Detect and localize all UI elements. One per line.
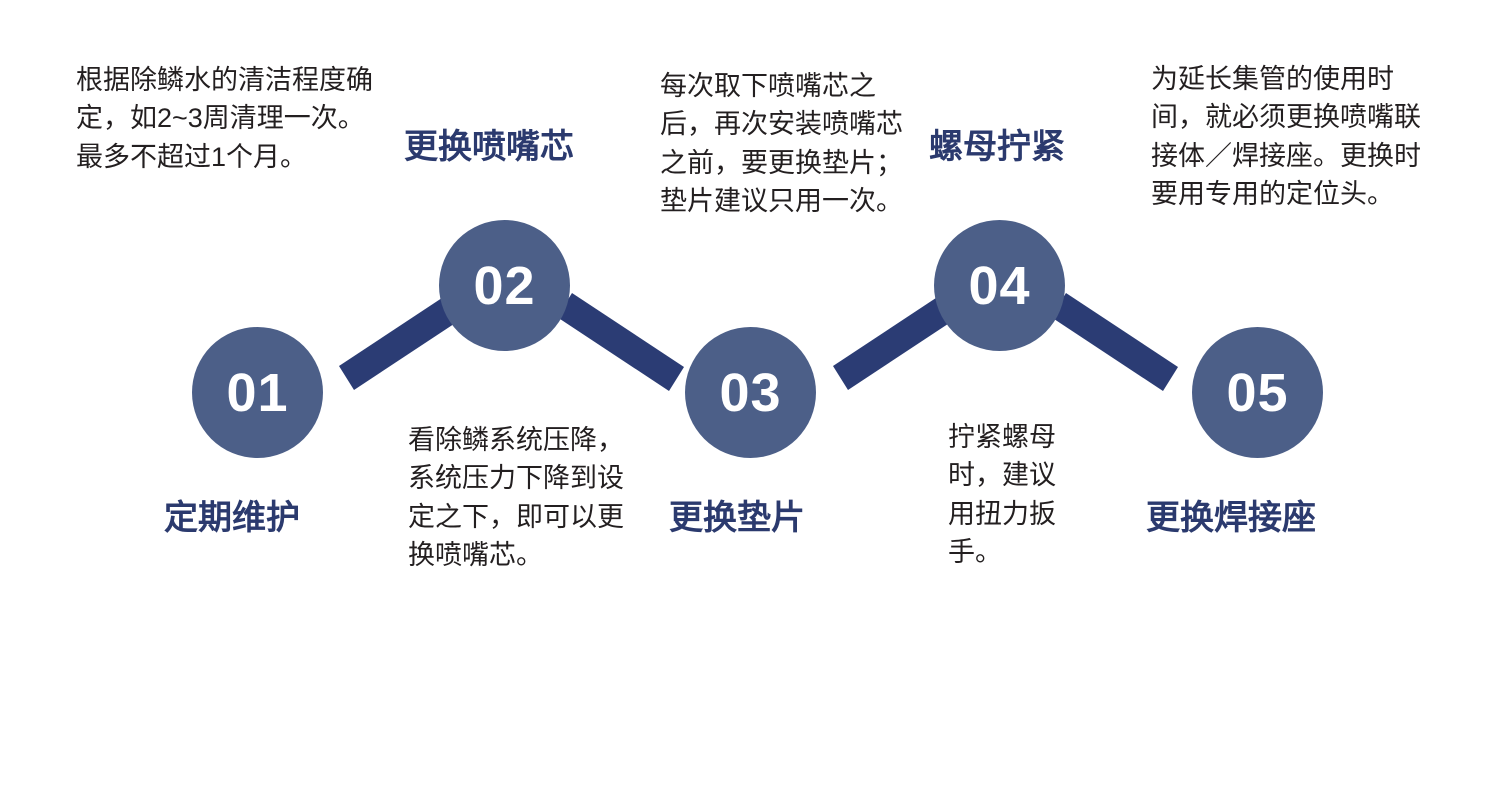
step-number-04: 04: [968, 259, 1030, 313]
connector-bar-4-5: [1051, 293, 1178, 391]
step-title-04: 螺母拧紧: [929, 128, 1065, 167]
step-number-01: 01: [226, 366, 288, 420]
step-number-03: 03: [719, 366, 781, 420]
step-title-01: 定期维护: [164, 499, 300, 538]
step-text-05: 为延长集管的使用时间，就必须更换喷嘴联接体／焊接座。更换时要用专用的定位头。: [1151, 60, 1441, 213]
step-text-02: 看除鳞系统压降，系统压力下降到设定之下，即可以更换喷嘴芯。: [408, 421, 626, 574]
step-circle-03[interactable]: 03: [685, 327, 816, 458]
connector-bar-2-3: [557, 293, 684, 391]
step-circle-04[interactable]: 04: [934, 220, 1065, 351]
step-circle-05[interactable]: 05: [1192, 327, 1323, 458]
step-title-05: 更换焊接座: [1146, 499, 1316, 538]
step-text-04: 拧紧螺母时，建议用扭力扳手。: [948, 418, 1078, 571]
step-circle-01[interactable]: 01: [192, 327, 323, 458]
step-number-05: 05: [1226, 366, 1288, 420]
step-text-01: 根据除鳞水的清洁程度确定，如2~3周清理一次。最多不超过1个月。: [76, 61, 391, 176]
step-title-02: 更换喷嘴芯: [404, 128, 574, 167]
step-number-02: 02: [473, 259, 535, 313]
step-circle-02[interactable]: 02: [439, 220, 570, 351]
infographic-canvas: 01 定期维护 根据除鳞水的清洁程度确定，如2~3周清理一次。最多不超过1个月。…: [0, 0, 1501, 807]
step-title-03: 更换垫片: [669, 499, 805, 538]
step-text-03: 每次取下喷嘴芯之后，再次安装喷嘴芯之前，要更换垫片；垫片建议只用一次。: [660, 67, 905, 220]
